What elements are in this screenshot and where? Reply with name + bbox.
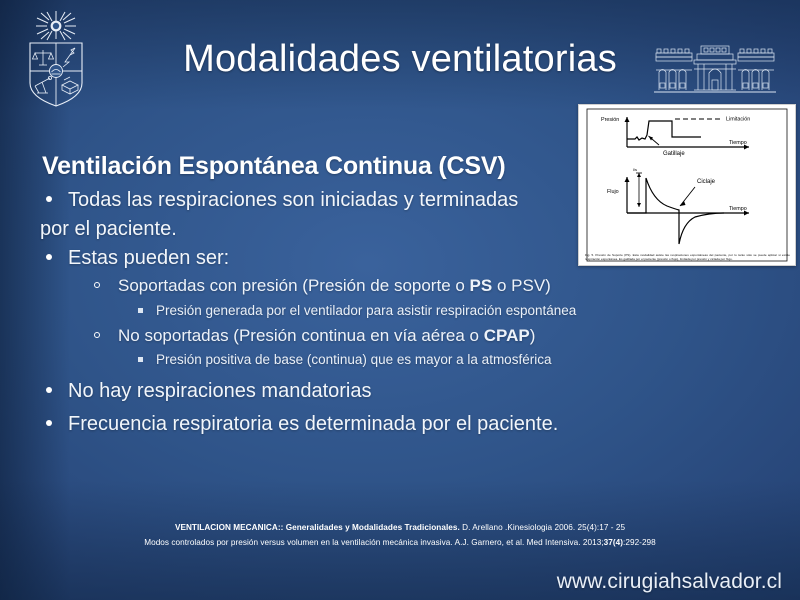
sub-sub-bullet-item-1: Presión generada por el ventilador para … (40, 302, 730, 320)
website-url[interactable]: www.cirugiahsalvador.cl (557, 570, 782, 594)
sub-sub-bullet-item-1-text: Presión generada por el ventilador para … (156, 303, 576, 318)
reference-2-title: Modos controlados por presión versus vol… (144, 538, 603, 547)
bullet-dot-icon (46, 196, 52, 202)
figure-label-tiempo-top: Tiempo (729, 140, 747, 146)
bullet-dot-icon (46, 254, 52, 260)
reference-1-title: VENTILACION MECANICA:: Generalidades y M… (175, 523, 460, 532)
page-title: Modalidades ventilatorias (150, 38, 650, 81)
bullet-item-2-text: Estas pueden ser: (68, 247, 229, 269)
bullet-item-1-text: Todas las respiraciones son iniciadas y … (68, 189, 518, 211)
bullet-circle-icon (94, 332, 100, 338)
reference-2-volume: 37(4) (604, 538, 623, 547)
presentation-slide: Modalidades ventilatorias (0, 0, 800, 600)
sub-bullet-item-1-text-c: o PSV) (492, 276, 551, 295)
sub-bullet-item-1: Soportadas con presión (Presión de sopor… (40, 275, 730, 298)
reference-line-1: VENTILACION MECANICA:: Generalidades y M… (0, 520, 800, 535)
section-heading: Ventilación Espontánea Continua (CSV) (42, 152, 730, 181)
reference-2-pages: :292-298 (623, 538, 656, 547)
sub-sub-bullet-item-2-text: Presión positiva de base (continua) que … (156, 352, 551, 367)
bullet-item-2: Estas pueden ser: (40, 245, 730, 272)
bullet-dot-icon (46, 420, 52, 426)
references-block: VENTILACION MECANICA:: Generalidades y M… (0, 520, 800, 550)
bullet-item-4-text: Frecuencia respiratoria es determinada p… (68, 413, 558, 435)
reference-line-2: Modos controlados por presión versus vol… (0, 535, 800, 550)
bullet-circle-icon (94, 282, 100, 288)
bullet-item-3-text: No hay respiraciones mandatorias (68, 380, 372, 402)
reference-1-source: D. Arellano .Kinesiologia 2006. 25(4):17… (460, 523, 625, 532)
figure-label-limitacion: Limitación (726, 117, 750, 123)
universidad-de-chile-crest-icon (20, 9, 92, 109)
sub-bullet-item-2-text-c: ) (530, 326, 536, 345)
sub-bullet-item-2-abbr: CPAP (484, 326, 530, 345)
bullet-item-1-continuation: por el paciente. (40, 216, 730, 243)
hospital-building-logo-icon (652, 40, 778, 96)
bullet-item-3: No hay respiraciones mandatorias (40, 378, 730, 405)
sub-bullet-item-1-text-a: Soportadas con presión (Presión de sopor… (118, 276, 470, 295)
bullet-item-4: Frecuencia respiratoria es determinada p… (40, 411, 730, 438)
bullet-square-icon (138, 308, 143, 313)
sub-bullet-item-2-text-a: No soportadas (Presión continua en vía a… (118, 326, 484, 345)
bullet-dot-icon (46, 387, 52, 393)
slide-body: Ventilación Espontánea Continua (CSV) To… (40, 152, 730, 439)
sub-bullet-item-1-abbr: PS (470, 276, 493, 295)
sub-sub-bullet-item-2: Presión positiva de base (continua) que … (40, 351, 730, 369)
figure-label-tiempo-bottom: Tiempo (729, 206, 747, 212)
bullet-square-icon (138, 357, 143, 362)
figure-label-presion: Presión (601, 117, 619, 123)
sub-bullet-item-2: No soportadas (Presión continua en vía a… (40, 325, 730, 348)
bullet-item-1: Todas las respiraciones son iniciadas y … (40, 187, 730, 214)
